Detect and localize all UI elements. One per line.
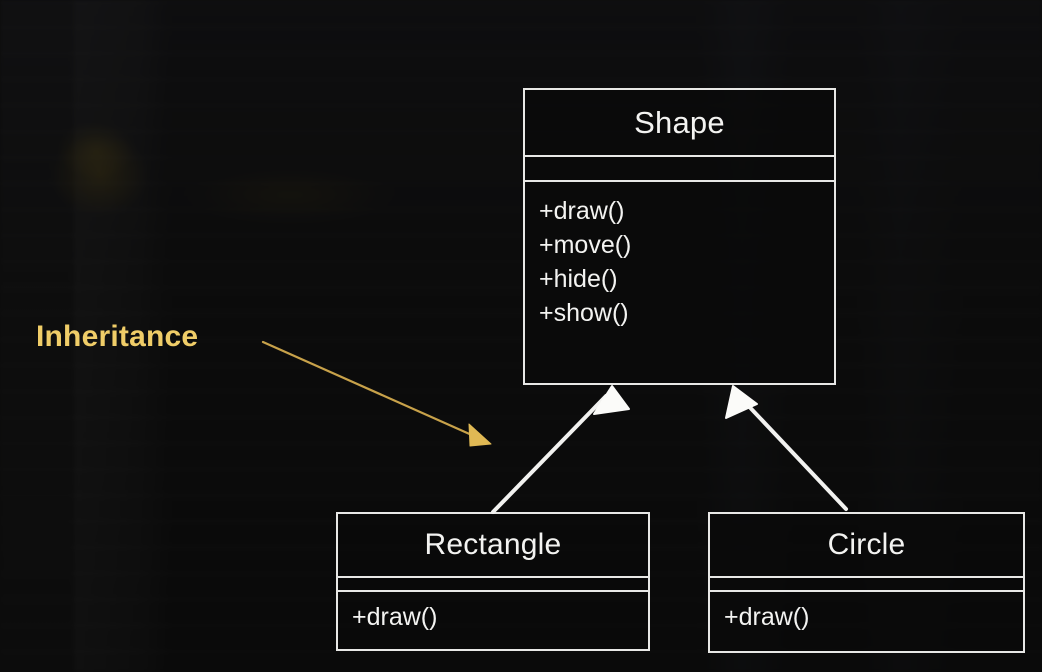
- operation-row: +draw(): [352, 600, 648, 634]
- uml-class-circle[interactable]: Circle +draw(): [708, 512, 1025, 653]
- operation-row: +draw(): [724, 600, 1023, 634]
- annotation-label-inheritance: Inheritance: [36, 320, 198, 354]
- class-name-shape: Shape: [525, 90, 834, 155]
- operation-row: +draw(): [539, 194, 834, 228]
- attribute-compartment-shape: [525, 155, 834, 180]
- operation-compartment-shape: +draw() +move() +hide() +show(): [525, 180, 834, 330]
- operation-row: +show(): [539, 296, 834, 330]
- attribute-compartment-rectangle: [338, 576, 648, 590]
- operation-row: +hide(): [539, 262, 834, 296]
- operation-compartment-circle: +draw(): [710, 590, 1023, 634]
- attribute-compartment-circle: [710, 576, 1023, 590]
- uml-class-rectangle[interactable]: Rectangle +draw(): [336, 512, 650, 651]
- class-name-circle: Circle: [710, 514, 1023, 576]
- diagram-canvas: Shape +draw() +move() +hide() +show() Re…: [0, 0, 1042, 672]
- class-name-rectangle: Rectangle: [338, 514, 648, 576]
- uml-class-shape[interactable]: Shape +draw() +move() +hide() +show(): [523, 88, 836, 385]
- operation-row: +move(): [539, 228, 834, 262]
- operation-compartment-rectangle: +draw(): [338, 590, 648, 634]
